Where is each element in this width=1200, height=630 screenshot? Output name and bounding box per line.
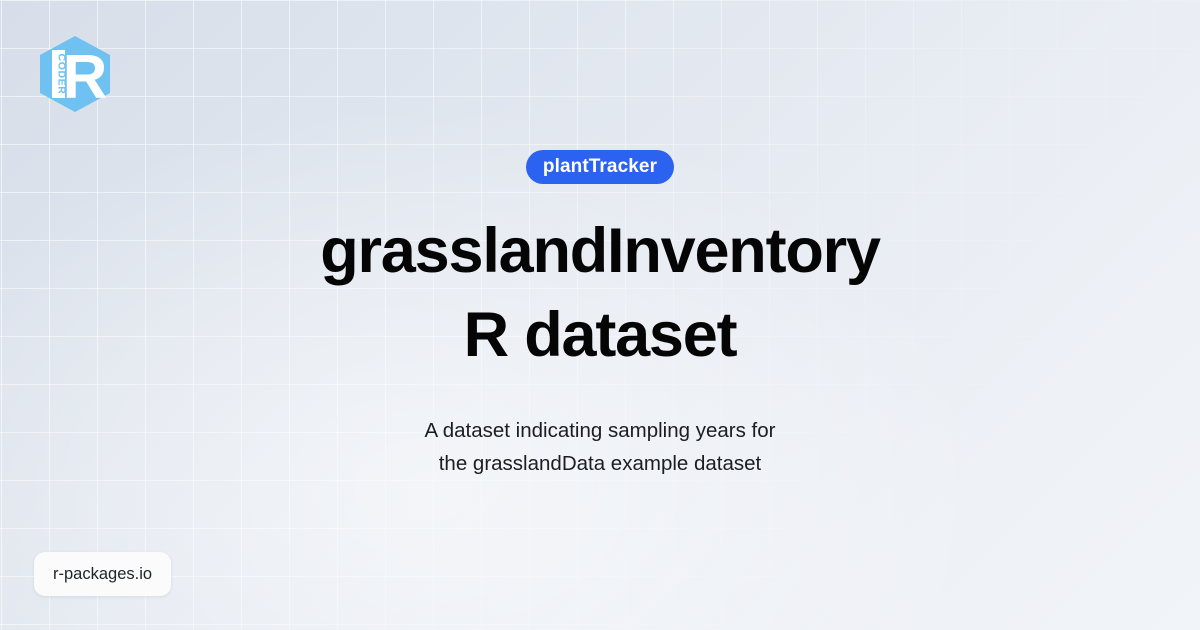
- site-name-chip[interactable]: r-packages.io: [34, 552, 171, 597]
- hero-section: plantTracker grasslandInventory R datase…: [0, 0, 1200, 630]
- page-title: grasslandInventory R dataset: [320, 210, 880, 378]
- page-subtitle-line-2: the grasslandData example dataset: [425, 447, 776, 480]
- og-card: CODER R plantTracker grasslandInventory …: [0, 0, 1200, 630]
- package-name-badge[interactable]: plantTracker: [526, 150, 674, 184]
- page-subtitle-line-1: A dataset indicating sampling years for: [425, 414, 776, 447]
- page-title-line-2: R dataset: [320, 294, 880, 378]
- page-title-line-1: grasslandInventory: [320, 210, 880, 294]
- page-subtitle: A dataset indicating sampling years for …: [425, 414, 776, 480]
